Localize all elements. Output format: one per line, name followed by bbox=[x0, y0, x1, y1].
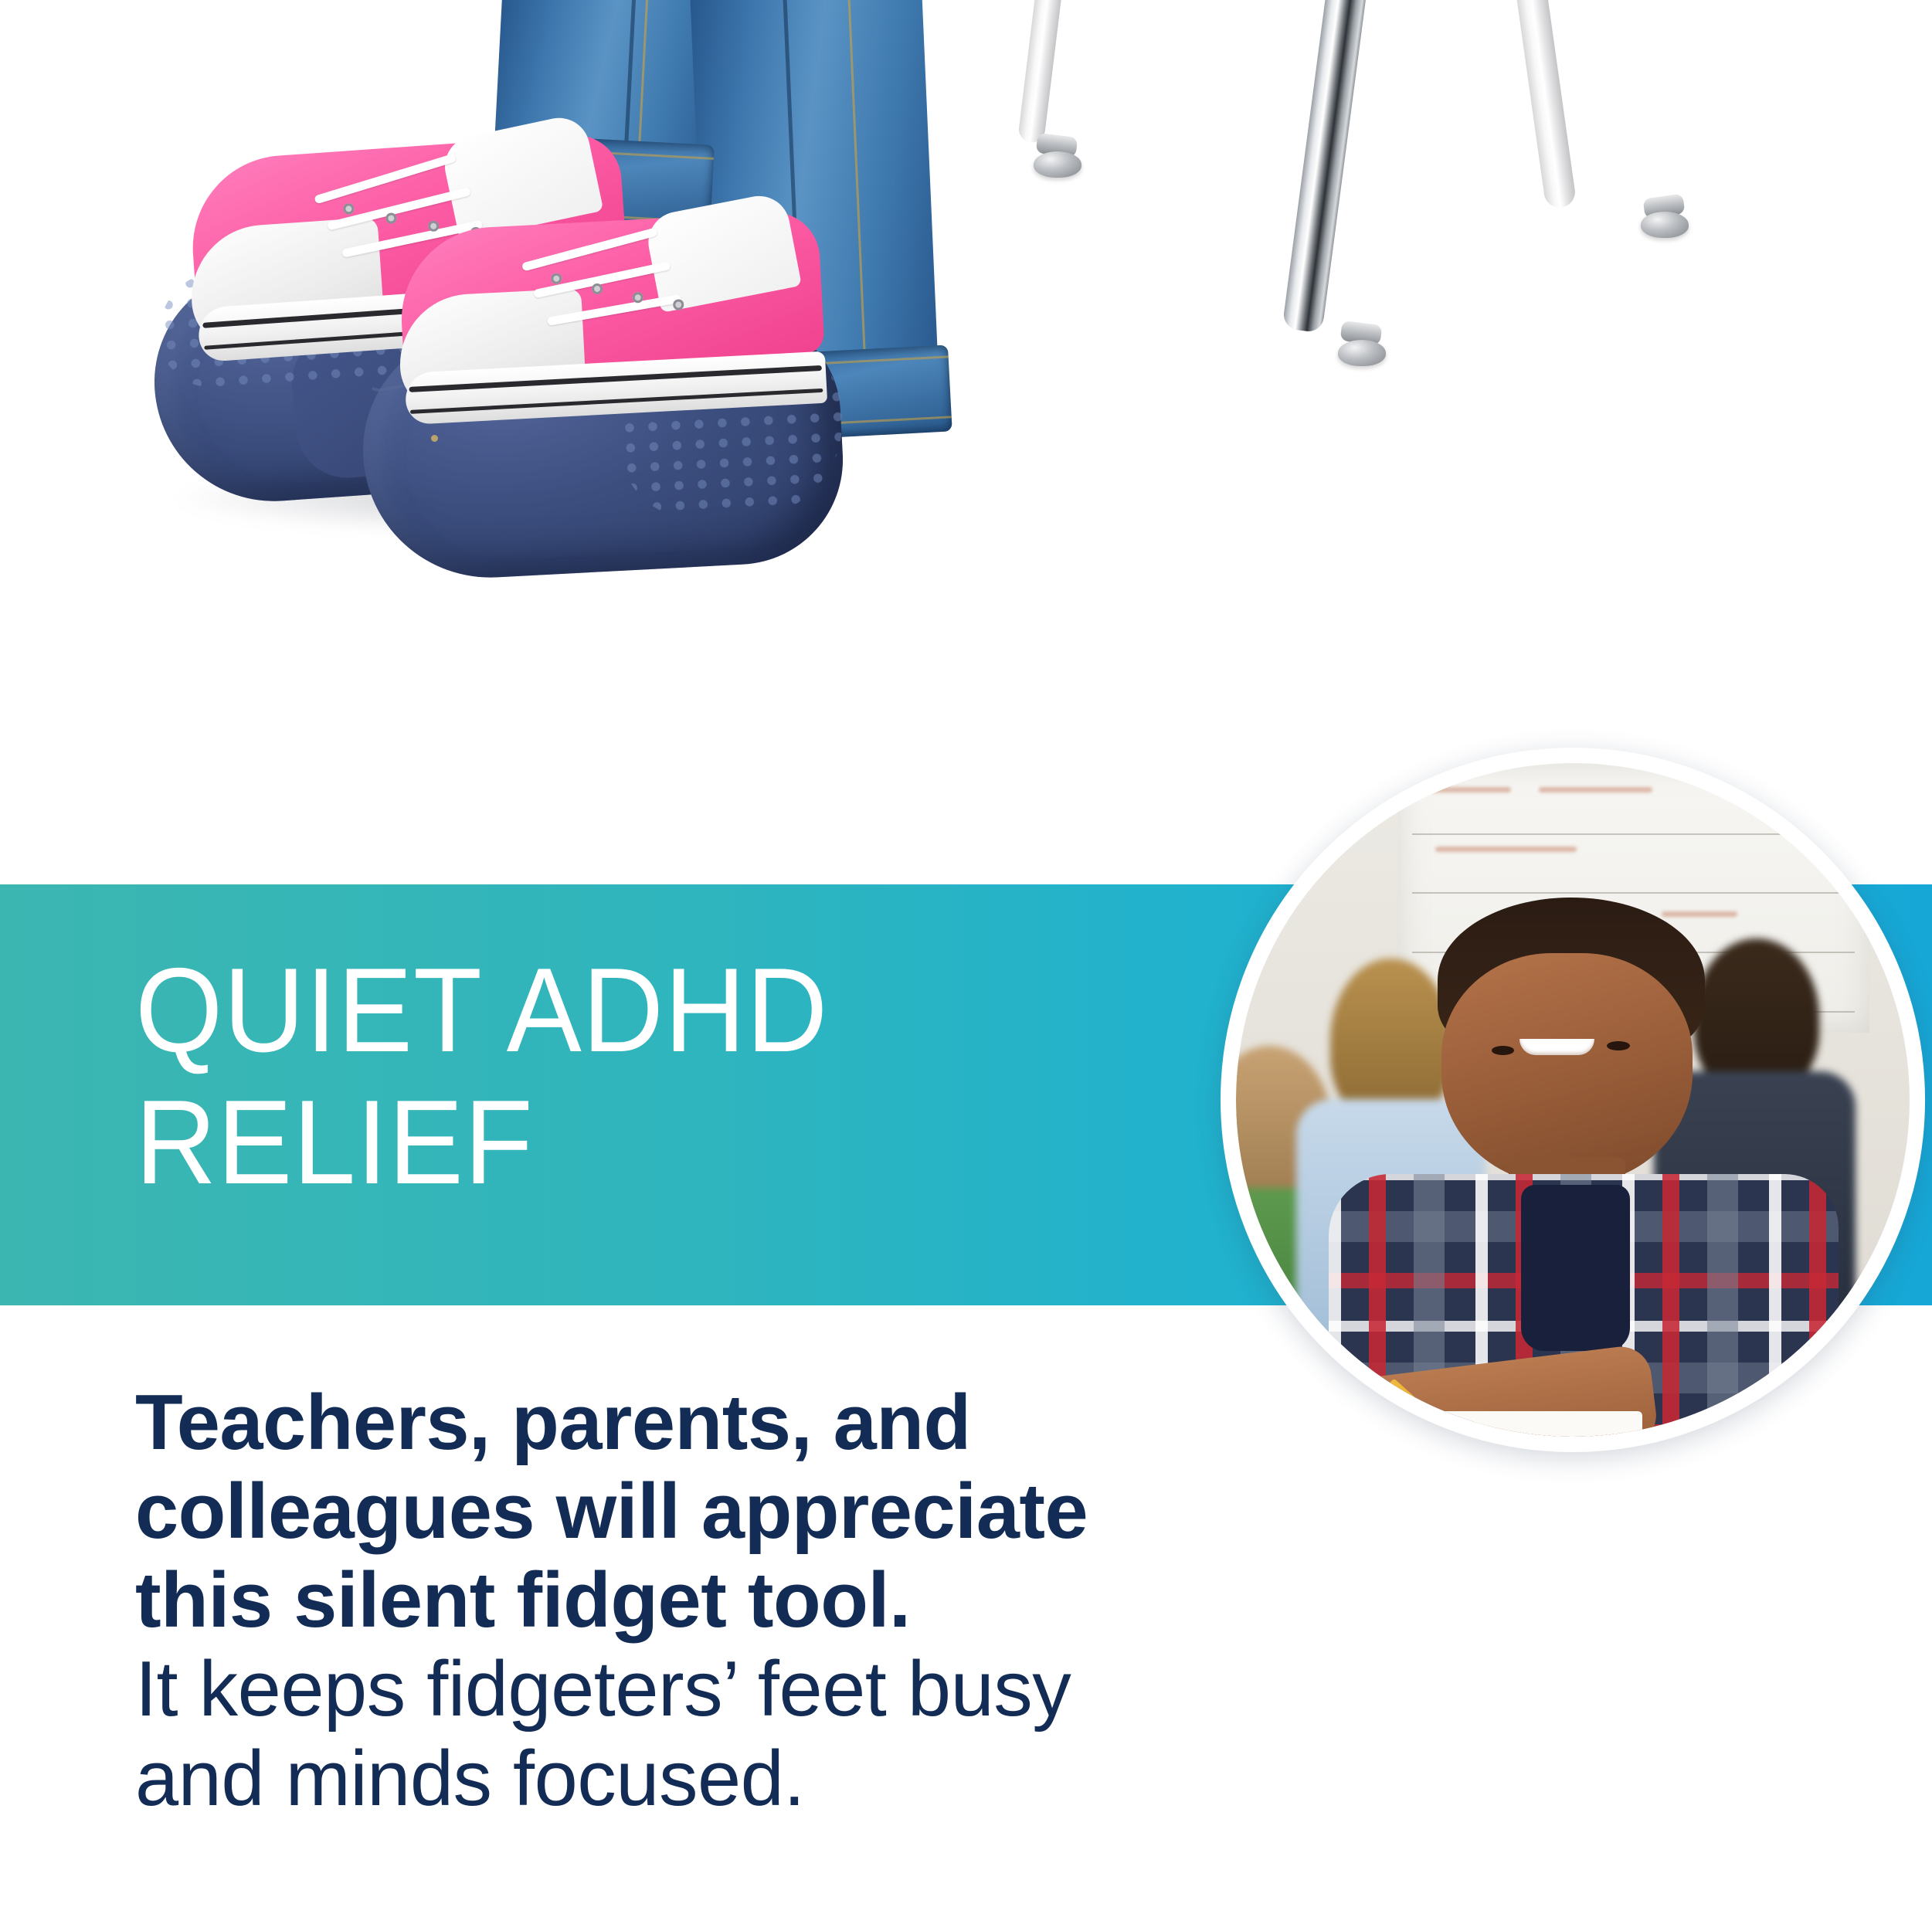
foreground-student bbox=[1370, 898, 1788, 1437]
chair-leg-center bbox=[1282, 0, 1370, 333]
copy-subtext: It keeps fidgeters’ feet busy and minds … bbox=[135, 1645, 1217, 1823]
chair-glide-foot-2 bbox=[1338, 340, 1386, 366]
student-face bbox=[1441, 953, 1692, 1185]
hero-product-photo bbox=[0, 0, 1932, 884]
banner-headline: QUIET ADHD RELIEF bbox=[135, 945, 1043, 1208]
fidget-vent-dot bbox=[431, 435, 438, 442]
student-undershirt bbox=[1521, 1185, 1630, 1351]
sneaker-right bbox=[397, 210, 827, 425]
classroom-circle-photo bbox=[1221, 748, 1925, 1452]
chair-leg-rear-right bbox=[1513, 0, 1577, 209]
body-copy-block: Teachers, parents, and colleagues will a… bbox=[135, 1379, 1217, 1824]
chair-glide-foot-1 bbox=[1034, 151, 1081, 178]
copy-headline: Teachers, parents, and colleagues will a… bbox=[135, 1379, 1217, 1645]
chair-glide-foot-3 bbox=[1641, 212, 1689, 238]
product-marketing-poster: QUIET ADHD RELIEF bbox=[0, 0, 1932, 1931]
classroom-scene bbox=[1236, 763, 1910, 1437]
chair-leg-rear-left bbox=[1017, 0, 1064, 144]
